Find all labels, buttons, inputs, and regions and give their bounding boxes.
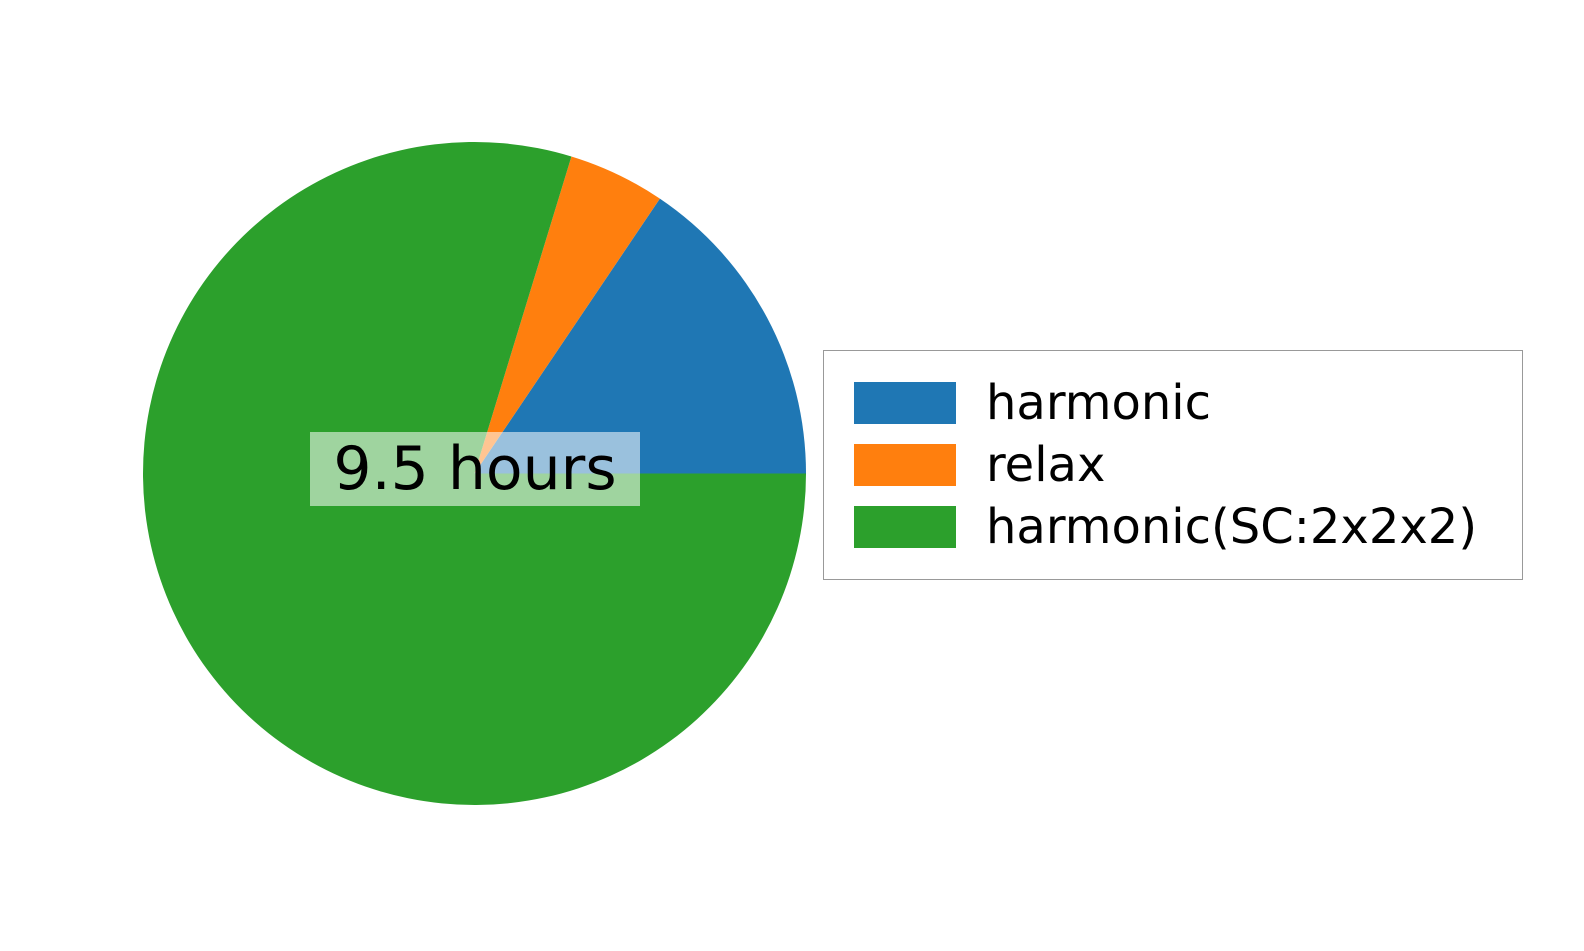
legend-label-harmonic: harmonic [986, 379, 1211, 427]
legend-swatch-relax [854, 444, 956, 486]
pie-center-label: 9.5 hours [310, 432, 640, 506]
legend-item-harmonic-sc[interactable]: harmonic(SC:2x2x2) [824, 496, 1522, 558]
legend-label-relax: relax [986, 441, 1105, 489]
legend-item-relax[interactable]: relax [824, 434, 1522, 496]
legend-swatch-harmonic-sc [854, 506, 956, 548]
legend-label-harmonic-sc: harmonic(SC:2x2x2) [986, 503, 1477, 551]
chart-legend: harmonic relax harmonic(SC:2x2x2) [823, 350, 1523, 580]
legend-item-harmonic[interactable]: harmonic [824, 372, 1522, 434]
pie-chart-figure: 9.5 hours harmonic relax harmonic(SC:2x2… [0, 0, 1584, 951]
legend-swatch-harmonic [854, 382, 956, 424]
